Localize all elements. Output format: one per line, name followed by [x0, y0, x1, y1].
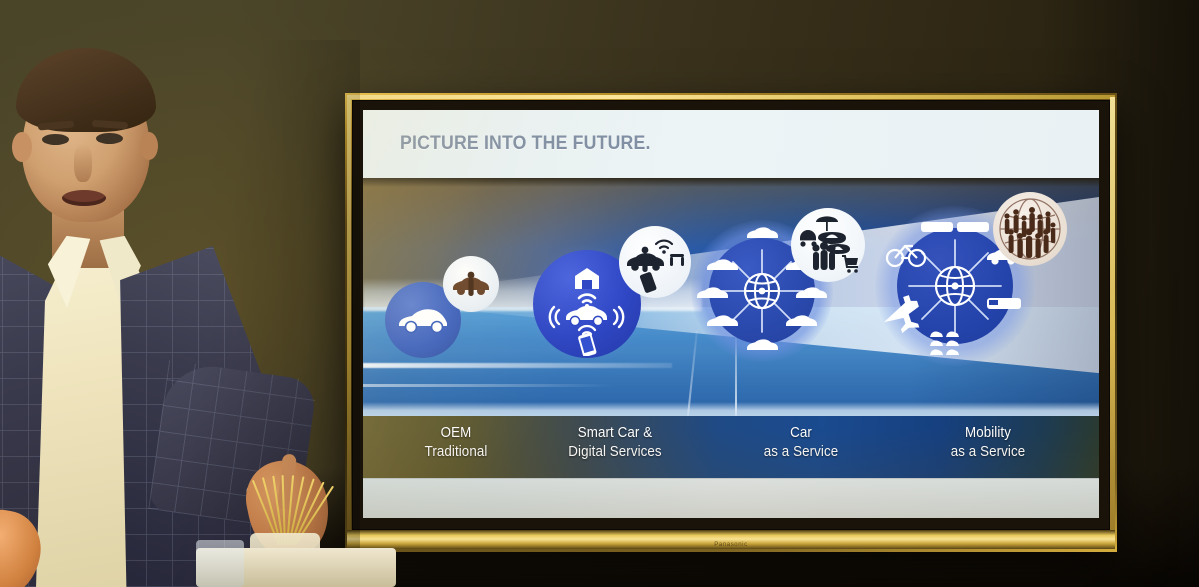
smartphone-icon — [639, 271, 657, 293]
stage-3-bubble — [791, 208, 865, 282]
wifi-icon — [656, 241, 672, 248]
tv-bezel-top-highlight — [347, 95, 1115, 99]
tv-brand-label: Panasonic — [345, 542, 1117, 548]
tv-screen[interactable]: PICTURE INTO THE FUTURE. — [363, 110, 1099, 518]
globe-icon — [936, 267, 974, 305]
crowd-of-people-icon — [993, 192, 1067, 266]
person-with-car-icon — [450, 270, 492, 298]
stage-label-line1: Smart Car & — [523, 424, 707, 443]
page-title: PICTURE INTO THE FUTURE. — [400, 133, 651, 155]
wifi-icon-lower — [579, 326, 595, 334]
globe-icon — [745, 274, 779, 308]
shopping-cart-icon — [842, 256, 858, 273]
stage-label-oem-traditional: OEM Traditional — [387, 424, 525, 462]
smartphone-icon — [578, 332, 598, 356]
stage-label-car-as-a-service: Car as a Service — [718, 424, 884, 462]
presentation-photo-scene: Panasonic PICTURE INTO THE FUTURE. — [0, 0, 1199, 587]
slide-footer-band — [363, 478, 1099, 518]
stage-label-line2: Traditional — [387, 443, 525, 462]
stage-label-line1: OEM — [387, 424, 525, 443]
ear-right — [140, 132, 158, 160]
tv-bezel-right-highlight — [1110, 97, 1115, 532]
stage-label-line2: Digital Services — [523, 443, 707, 462]
stage-label-line2: as a Service — [718, 443, 884, 462]
drinking-glass — [196, 540, 244, 587]
stage-label-smart-car: Smart Car & Digital Services — [523, 424, 707, 462]
road-edge-line-secondary — [363, 384, 613, 387]
stage-2-bubble — [619, 226, 691, 298]
wifi-icon — [579, 295, 595, 302]
ear-left — [12, 132, 32, 162]
stage-label-line1: Mobility — [901, 424, 1076, 443]
mobility-users-cluster-icon — [794, 212, 862, 278]
stage-label-line2: as a Service — [901, 443, 1076, 462]
car-icon — [566, 306, 607, 326]
airplane-icon — [878, 293, 925, 337]
stroller-icon — [800, 230, 817, 247]
car-icon — [396, 305, 450, 335]
visual-bottom-glow — [363, 402, 1099, 416]
eye-left — [42, 134, 69, 145]
digital-services-cluster-icon — [622, 230, 688, 294]
slide-visual-band — [363, 178, 1099, 416]
slide-header: PICTURE INTO THE FUTURE. — [363, 110, 1099, 178]
bus-icon — [987, 298, 1021, 309]
stage-1-bubble — [443, 256, 499, 312]
television-display[interactable]: Panasonic PICTURE INTO THE FUTURE. — [345, 93, 1117, 552]
tv-bezel-left-highlight — [347, 97, 351, 532]
road-edge-line — [363, 363, 672, 368]
hair — [16, 48, 156, 132]
eye-right — [96, 133, 123, 144]
stage-4-bubble — [993, 192, 1067, 266]
nose — [74, 144, 92, 182]
car-fleet-icon — [930, 332, 959, 356]
mouth — [62, 190, 106, 206]
stage-label-mobility-as-a-service: Mobility as a Service — [901, 424, 1076, 462]
sofa-icon — [670, 254, 684, 266]
stage-label-line1: Car — [718, 424, 884, 443]
family-group-icon — [812, 242, 835, 270]
visual-top-shadow — [363, 178, 1099, 187]
slide-label-band: OEM Traditional Smart Car & Digital Serv… — [363, 416, 1099, 478]
person-with-car-icon — [627, 247, 664, 272]
bicycle-icon — [887, 246, 925, 266]
umbrella-icon — [816, 216, 838, 231]
train-icon — [921, 222, 989, 232]
